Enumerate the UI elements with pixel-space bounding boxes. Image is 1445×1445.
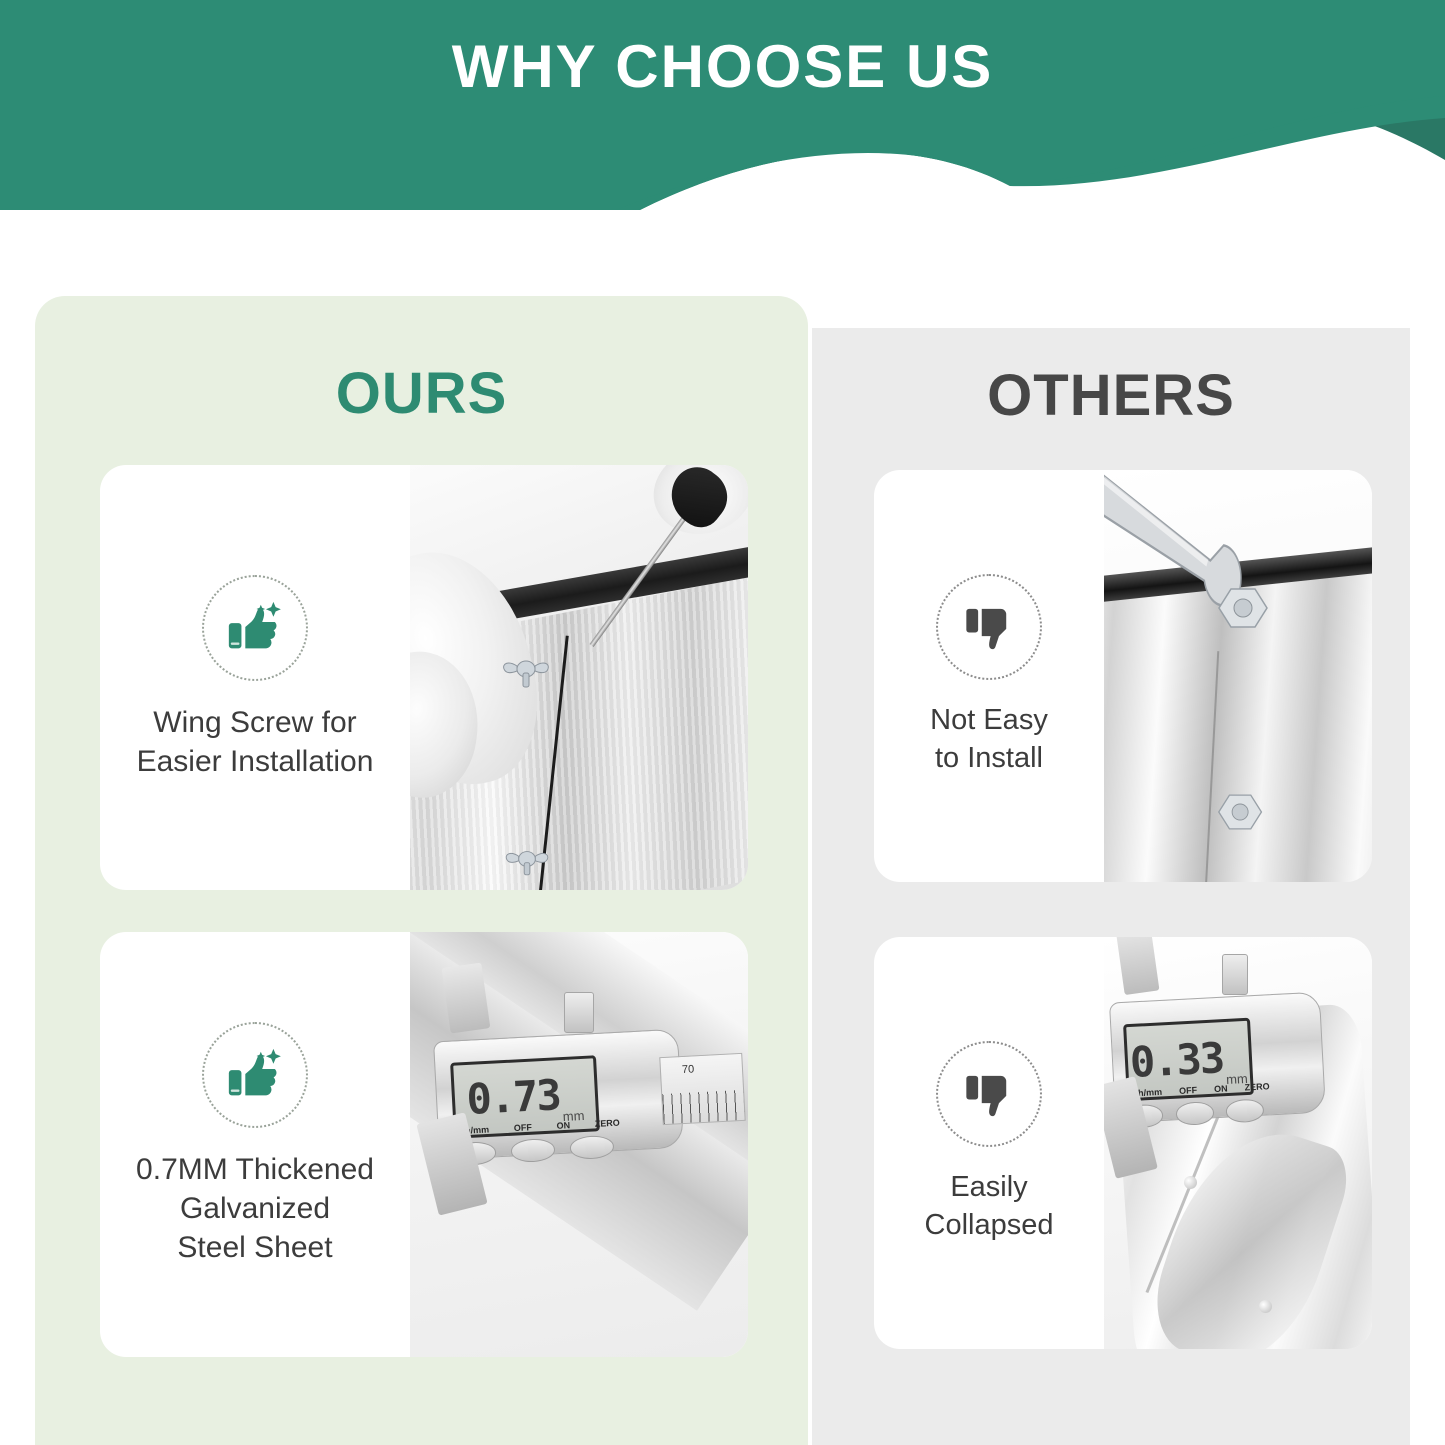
card-label: Easily Collapsed — [925, 1169, 1054, 1244]
hex-nut-icon — [1217, 791, 1265, 833]
page-title: WHY CHOOSE US — [0, 34, 1445, 100]
caliper-label-off: OFF — [513, 1122, 531, 1133]
comparison-infographic: WHY CHOOSE US OURS OTHERS Wing Screw for… — [0, 0, 1445, 1445]
caliper-label-off: OFF — [1179, 1085, 1197, 1096]
thumbs-up-icon — [202, 575, 308, 681]
heading-others: OTHERS — [812, 362, 1410, 429]
digital-caliper: 0.73 mm inch/mm OFF ON ZERO 70 — [427, 1000, 738, 1196]
caliper-scale-number: 70 — [682, 1063, 695, 1076]
heading-ours: OURS — [35, 360, 808, 427]
photo-caliper-thick-sheet: 0.73 mm inch/mm OFF ON ZERO 70 — [410, 932, 748, 1357]
wing-screw-icon — [498, 648, 554, 690]
header-wave-graphic — [0, 0, 1445, 210]
card-others-install: Not Easy to Install — [874, 470, 1372, 882]
caliper-label-on: ON — [556, 1120, 570, 1131]
photo-wrench-install — [1104, 470, 1372, 882]
hex-nut-icon — [1217, 585, 1271, 631]
card-label: Not Easy to Install — [930, 702, 1048, 777]
digital-caliper: 0.33 mm inch/mm OFF ON ZERO — [1104, 962, 1372, 1160]
card-text-area: Easily Collapsed — [874, 937, 1104, 1349]
card-others-collapsed: Easily Collapsed 0.33 mm inch/mm OFF ON — [874, 937, 1372, 1349]
caliper-button — [1226, 1099, 1265, 1124]
card-text-area: Wing Screw for Easier Installation — [100, 465, 410, 890]
thumbs-down-icon — [936, 574, 1042, 680]
card-ours-thickness: 0.7MM Thickened Galvanized Steel Sheet 0… — [100, 932, 748, 1357]
card-ours-wing-screw: Wing Screw for Easier Installation — [100, 465, 748, 890]
photo-caliper-thin-sheet: 0.33 mm inch/mm OFF ON ZERO — [1104, 937, 1372, 1349]
caliper-label-zero: ZERO — [594, 1118, 620, 1129]
page-header: WHY CHOOSE US — [0, 0, 1445, 210]
caliper-label-on: ON — [1214, 1084, 1228, 1095]
thumbs-down-icon — [936, 1041, 1042, 1147]
caliper-button — [569, 1135, 614, 1160]
thumbs-up-icon — [202, 1022, 308, 1128]
card-label: Wing Screw for Easier Installation — [137, 703, 374, 781]
caliper-button — [1175, 1102, 1214, 1127]
caliper-label-zero: ZERO — [1245, 1081, 1271, 1092]
card-label: 0.7MM Thickened Galvanized Steel Sheet — [136, 1150, 374, 1267]
caliper-scale: 70 — [659, 1053, 745, 1126]
caliper-button — [510, 1138, 555, 1163]
wing-screw-icon — [501, 839, 553, 879]
photo-wing-screw-install — [410, 465, 748, 890]
card-text-area: 0.7MM Thickened Galvanized Steel Sheet — [100, 932, 410, 1357]
card-text-area: Not Easy to Install — [874, 470, 1104, 882]
